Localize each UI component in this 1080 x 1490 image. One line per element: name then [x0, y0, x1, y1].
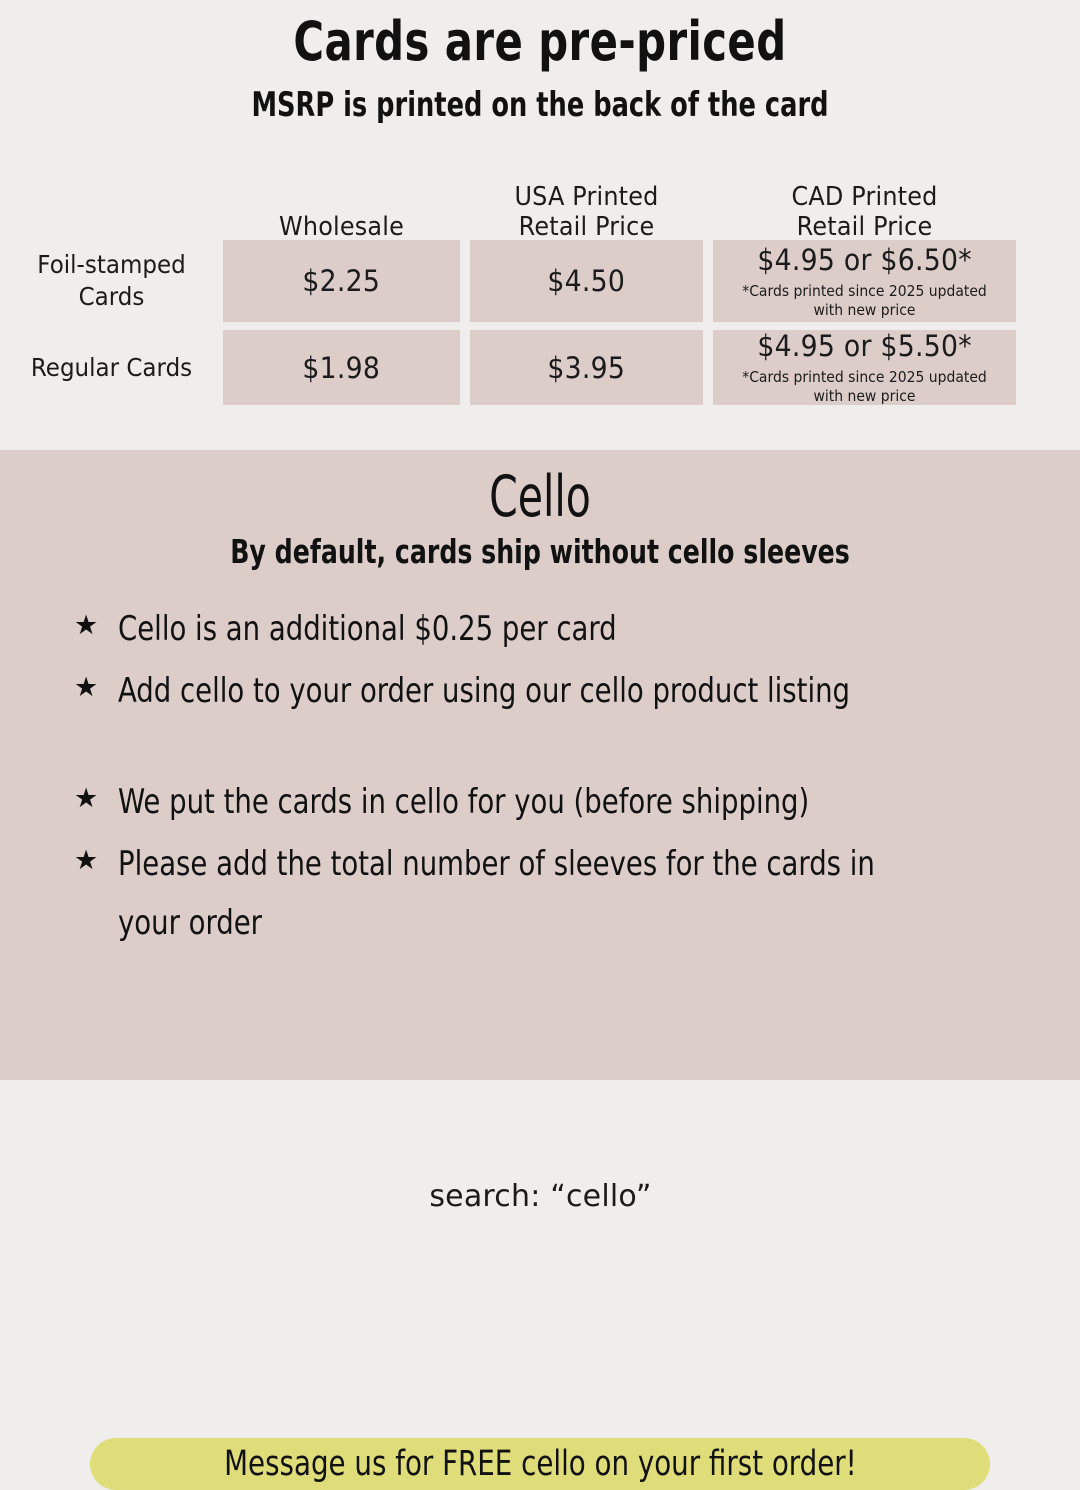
star-icon: ★ — [74, 662, 118, 715]
price-value: $4.95 or $6.50* — [757, 243, 972, 277]
price-value: $4.50 — [548, 264, 626, 298]
column-header-usa-line1: USA Printed — [479, 182, 693, 212]
list-item-label: Please add the total number of sleeves f… — [118, 835, 924, 952]
column-header-cad-line1: CAD Printed — [725, 182, 1004, 212]
column-header-wholesale-label: Wholesale — [232, 212, 450, 242]
list-item: ★ Cello is an additional $0.25 per card — [74, 600, 1014, 658]
pricing-section: Cards are pre-priced MSRP is printed on … — [0, 0, 1080, 450]
table-cell-regular-wholesale: $1.98 — [223, 330, 460, 405]
column-header-wholesale: Wholesale — [232, 212, 450, 242]
price-table: Wholesale USA Printed Retail Price CAD P… — [0, 160, 1080, 410]
cello-subtitle: By default, cards ship without cello sle… — [81, 534, 999, 570]
cello-section: Cello By default, cards ship without cel… — [0, 450, 1080, 1080]
cello-bullet-list: ★ Cello is an additional $0.25 per card … — [74, 600, 1014, 956]
column-header-cad-retail: CAD Printed Retail Price — [725, 182, 1004, 242]
price-footnote: *Cards printed since 2025 updated with n… — [728, 282, 1001, 319]
list-item-label: Add cello to your order using our cello … — [118, 662, 924, 720]
star-icon: ★ — [74, 773, 118, 826]
table-cell-foil-usa-retail: $4.50 — [470, 240, 703, 322]
search-hint-pill[interactable]: search: “cello” — [362, 1172, 719, 1220]
pricing-subtitle: MSRP is printed on the back of the card — [86, 87, 993, 124]
cta-banner[interactable]: Message us for FREE cello on your first … — [90, 1438, 990, 1490]
price-value: $1.98 — [303, 351, 381, 385]
row-label-foil-line2: Cards — [37, 281, 185, 313]
cta-label: Message us for FREE cello on your first … — [224, 1444, 857, 1484]
page-title: Cards are pre-priced — [76, 14, 1005, 71]
row-label-foil-line1: Foil-stamped — [37, 249, 185, 281]
price-value: $3.95 — [548, 351, 626, 385]
infographic-page: Cards are pre-priced MSRP is printed on … — [0, 0, 1080, 1080]
list-item: ★ Please add the total number of sleeves… — [74, 835, 1014, 952]
cello-title: Cello — [108, 469, 972, 526]
row-label-regular-cards: Regular Cards — [16, 330, 206, 405]
list-item: ★ We put the cards in cello for you (bef… — [74, 773, 1014, 831]
table-cell-regular-usa-retail: $3.95 — [470, 330, 703, 405]
column-header-usa-retail: USA Printed Retail Price — [479, 182, 693, 242]
row-label-foil-stamped-cards: Foil-stamped Cards — [16, 240, 206, 322]
search-hint-label: search: “cello” — [429, 1179, 651, 1214]
list-item-label: Cello is an additional $0.25 per card — [118, 600, 924, 658]
price-footnote: *Cards printed since 2025 updated with n… — [728, 368, 1001, 405]
column-header-usa-line2: Retail Price — [479, 212, 693, 242]
table-cell-foil-wholesale: $2.25 — [223, 240, 460, 322]
price-value: $2.25 — [303, 264, 381, 298]
star-icon: ★ — [74, 835, 118, 888]
list-item-label: We put the cards in cello for you (befor… — [118, 773, 924, 831]
table-cell-foil-cad-retail: $4.95 or $6.50* *Cards printed since 202… — [713, 240, 1016, 322]
list-item: ★ Add cello to your order using our cell… — [74, 662, 1014, 720]
column-header-cad-line2: Retail Price — [725, 212, 1004, 242]
price-value: $4.95 or $5.50* — [757, 329, 972, 363]
row-label-regular-line1: Regular Cards — [31, 352, 192, 384]
table-cell-regular-cad-retail: $4.95 or $5.50* *Cards printed since 202… — [713, 330, 1016, 405]
star-icon: ★ — [74, 600, 118, 653]
